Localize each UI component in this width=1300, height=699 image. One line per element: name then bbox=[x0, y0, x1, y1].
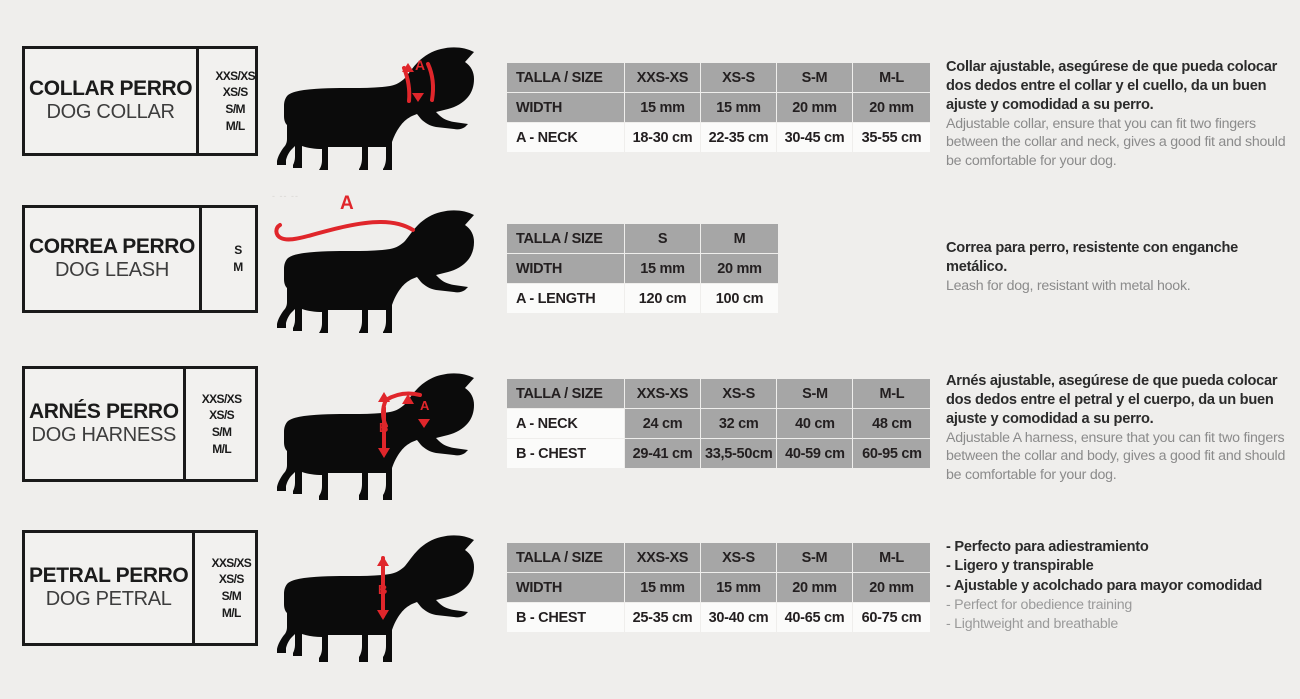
list-item: - Lightweight and breathable bbox=[946, 615, 1286, 634]
column-header: XS-S bbox=[701, 63, 777, 93]
row-label: A - NECK bbox=[507, 123, 625, 153]
dog-petral-svg: B bbox=[268, 522, 500, 664]
row-label: WIDTH bbox=[507, 254, 625, 284]
column-header: M-L bbox=[853, 63, 931, 93]
table-cell: 25-35 cm bbox=[625, 603, 701, 633]
table-cell: 30-40 cm bbox=[701, 603, 777, 633]
table-cell: 15 mm bbox=[625, 573, 701, 603]
table-cell: 60-75 cm bbox=[853, 603, 931, 633]
table-cell: 40-65 cm bbox=[777, 603, 853, 633]
dog-silhouette-petral-illustration: B bbox=[268, 522, 500, 664]
dog-leash-svg: A - -- -- bbox=[268, 183, 500, 333]
nameplate-dog-petral: PETRAL PERRO DOG PETRAL XXS/XS XS/S S/M … bbox=[22, 530, 258, 646]
row-label: WIDTH bbox=[507, 573, 625, 603]
nameplate-titles: COLLAR PERRO DOG COLLAR bbox=[25, 49, 199, 153]
nameplate-dog-collar: COLLAR PERRO DOG COLLAR XXS/XS XS/S S/M … bbox=[22, 46, 258, 156]
column-header: TALLA / SIZE bbox=[507, 63, 625, 93]
table-cell: 15 mm bbox=[625, 93, 701, 123]
size-label: XXS/XS bbox=[211, 555, 251, 572]
size-table-dog-harness-wrap: TALLA / SIZE XXS-XS XS-S S-M M-L A - NEC… bbox=[506, 378, 931, 469]
dog-silhouette-collar-illustration: A bbox=[268, 40, 500, 170]
column-header: XXS-XS bbox=[625, 63, 701, 93]
description-dog-leash: Correa para perro, resistente con enganc… bbox=[946, 239, 1286, 295]
scan-artifact: - -- -- bbox=[272, 191, 299, 201]
table-cell: 15 mm bbox=[625, 254, 701, 284]
nameplate-titles: PETRAL PERRO DOG PETRAL bbox=[25, 533, 195, 643]
table-cell: 20 mm bbox=[701, 254, 779, 284]
row-label: B - CHEST bbox=[507, 439, 625, 469]
size-label: XS/S bbox=[209, 407, 234, 424]
product-title-es: CORREA PERRO bbox=[29, 236, 195, 259]
table-header-row: TALLA / SIZE XXS-XS XS-S S-M M-L bbox=[507, 379, 931, 409]
product-title-es: ARNÉS PERRO bbox=[29, 401, 179, 424]
column-header: S-M bbox=[777, 379, 853, 409]
table-cell: 40 cm bbox=[777, 409, 853, 439]
table-cell: 60-95 cm bbox=[853, 439, 931, 469]
product-title-en: DOG COLLAR bbox=[47, 101, 175, 123]
table-cell: 30-45 cm bbox=[777, 123, 853, 153]
product-title-en: DOG HARNESS bbox=[32, 424, 177, 446]
description-es: Arnés ajustable, asegúrese de que pueda … bbox=[946, 372, 1286, 429]
table-row: WIDTH 15 mm 15 mm 20 mm 20 mm bbox=[507, 573, 931, 603]
table-cell: 20 mm bbox=[777, 93, 853, 123]
table-row: B - CHEST 25-35 cm 30-40 cm 40-65 cm 60-… bbox=[507, 603, 931, 633]
table-cell: 100 cm bbox=[701, 284, 779, 314]
column-header: M bbox=[701, 224, 779, 254]
column-header: S-M bbox=[777, 543, 853, 573]
size-table-dog-collar: TALLA / SIZE XXS-XS XS-S S-M M-L WIDTH 1… bbox=[506, 62, 931, 153]
column-header: XS-S bbox=[701, 543, 777, 573]
size-label: M/L bbox=[226, 118, 245, 135]
table-cell: 20 mm bbox=[853, 573, 931, 603]
nameplate-titles: CORREA PERRO DOG LEASH bbox=[25, 208, 202, 310]
product-section-dog-petral: PETRAL PERRO DOG PETRAL XXS/XS XS/S S/M … bbox=[0, 530, 1300, 670]
list-item: - Perfecto para adiestramiento bbox=[946, 538, 1286, 557]
table-cell: 15 mm bbox=[701, 93, 777, 123]
description-en: Adjustable collar, ensure that you can f… bbox=[946, 115, 1286, 170]
size-table-dog-petral: TALLA / SIZE XXS-XS XS-S S-M M-L WIDTH 1… bbox=[506, 542, 931, 633]
table-cell: 18-30 cm bbox=[625, 123, 701, 153]
dog-silhouette-leash-illustration: A - -- -- bbox=[268, 183, 500, 333]
column-header: TALLA / SIZE bbox=[507, 224, 625, 254]
description-es: Correa para perro, resistente con enganc… bbox=[946, 239, 1286, 277]
column-header: M-L bbox=[853, 379, 931, 409]
size-label: XS/S bbox=[219, 571, 244, 588]
description-en: Adjustable A harness, ensure that you ca… bbox=[946, 429, 1286, 484]
size-table-dog-collar-wrap: TALLA / SIZE XXS-XS XS-S S-M M-L WIDTH 1… bbox=[506, 62, 931, 153]
list-item: - Perfect for obedience training bbox=[946, 596, 1286, 615]
table-cell: 35-55 cm bbox=[853, 123, 931, 153]
dog-silhouette-harness-illustration: A B bbox=[268, 362, 500, 504]
row-label: B - CHEST bbox=[507, 603, 625, 633]
product-title-en: DOG LEASH bbox=[55, 259, 169, 281]
table-cell: 22-35 cm bbox=[701, 123, 777, 153]
row-label: WIDTH bbox=[507, 93, 625, 123]
table-header-row: TALLA / SIZE XXS-XS XS-S S-M M-L bbox=[507, 543, 931, 573]
leash-line bbox=[276, 222, 413, 239]
table-cell: 120 cm bbox=[625, 284, 701, 314]
table-cell: 32 cm bbox=[701, 409, 777, 439]
table-row: WIDTH 15 mm 20 mm bbox=[507, 254, 779, 284]
size-guide-sheet: COLLAR PERRO DOG COLLAR XXS/XS XS/S S/M … bbox=[0, 0, 1300, 699]
table-row: B - CHEST 29-41 cm 33,5-50cm 40-59 cm 60… bbox=[507, 439, 931, 469]
description-en: Leash for dog, resistant with metal hook… bbox=[946, 277, 1286, 295]
marker-label-b: B bbox=[379, 420, 388, 435]
row-label: A - LENGTH bbox=[507, 284, 625, 314]
product-section-dog-collar: COLLAR PERRO DOG COLLAR XXS/XS XS/S S/M … bbox=[0, 46, 1300, 176]
table-row: A - LENGTH 120 cm 100 cm bbox=[507, 284, 779, 314]
nameplate-dog-harness: ARNÉS PERRO DOG HARNESS XXS/XS XS/S S/M … bbox=[22, 366, 258, 482]
table-header-row: TALLA / SIZE S M bbox=[507, 224, 779, 254]
nameplate-size-list: XXS/XS XS/S S/M M/L bbox=[186, 369, 258, 479]
size-label: M/L bbox=[222, 605, 241, 622]
size-label: S/M bbox=[212, 424, 232, 441]
marker-label-b: B bbox=[378, 582, 387, 597]
size-table-dog-petral-wrap: TALLA / SIZE XXS-XS XS-S S-M M-L WIDTH 1… bbox=[506, 542, 931, 633]
size-label: S bbox=[234, 242, 241, 259]
description-dog-harness: Arnés ajustable, asegúrese de que pueda … bbox=[946, 372, 1286, 484]
size-label: XXS/XS bbox=[215, 68, 255, 85]
product-section-dog-harness: ARNÉS PERRO DOG HARNESS XXS/XS XS/S S/M … bbox=[0, 366, 1300, 506]
description-dog-collar: Collar ajustable, asegúrese de que pueda… bbox=[946, 58, 1286, 170]
product-section-dog-leash: CORREA PERRO DOG LEASH S M A - -- -- bbox=[0, 205, 1300, 335]
nameplate-size-list: XXS/XS XS/S S/M M/L bbox=[199, 49, 271, 153]
table-row: A - NECK 24 cm 32 cm 40 cm 48 cm bbox=[507, 409, 931, 439]
list-item: - Ligero y transpirable bbox=[946, 557, 1286, 576]
nameplate-size-list: XXS/XS XS/S S/M M/L bbox=[195, 533, 267, 643]
nameplate-titles: ARNÉS PERRO DOG HARNESS bbox=[25, 369, 186, 479]
table-cell: 20 mm bbox=[853, 93, 931, 123]
size-table-dog-leash-wrap: TALLA / SIZE S M WIDTH 15 mm 20 mm A - L… bbox=[506, 223, 779, 314]
table-cell: 40-59 cm bbox=[777, 439, 853, 469]
product-title-en: DOG PETRAL bbox=[46, 588, 172, 610]
product-title-es: COLLAR PERRO bbox=[29, 78, 192, 101]
column-header: XXS-XS bbox=[625, 543, 701, 573]
size-label: XXS/XS bbox=[202, 391, 242, 408]
size-table-dog-leash: TALLA / SIZE S M WIDTH 15 mm 20 mm A - L… bbox=[506, 223, 779, 314]
dog-harness-svg: A B bbox=[268, 362, 500, 504]
marker-label-a: A bbox=[415, 57, 425, 73]
marker-label-a: A bbox=[420, 398, 430, 413]
dog-collar-svg: A bbox=[268, 40, 500, 170]
size-label: M/L bbox=[212, 441, 231, 458]
table-cell: 20 mm bbox=[777, 573, 853, 603]
column-header: TALLA / SIZE bbox=[507, 379, 625, 409]
table-row: A - NECK 18-30 cm 22-35 cm 30-45 cm 35-5… bbox=[507, 123, 931, 153]
table-cell: 15 mm bbox=[701, 573, 777, 603]
table-cell: 48 cm bbox=[853, 409, 931, 439]
nameplate-dog-leash: CORREA PERRO DOG LEASH S M bbox=[22, 205, 258, 313]
marker-label-a: A bbox=[340, 193, 354, 214]
column-header: XXS-XS bbox=[625, 379, 701, 409]
column-header: TALLA / SIZE bbox=[507, 543, 625, 573]
feature-list: - Perfecto para adiestramiento - Ligero … bbox=[946, 538, 1286, 634]
list-item: - Ajustable y acolchado para mayor comod… bbox=[946, 577, 1286, 596]
column-header: XS-S bbox=[701, 379, 777, 409]
row-label: A - NECK bbox=[507, 409, 625, 439]
table-header-row: TALLA / SIZE XXS-XS XS-S S-M M-L bbox=[507, 63, 931, 93]
description-dog-petral: - Perfecto para adiestramiento - Ligero … bbox=[946, 538, 1286, 634]
table-cell: 24 cm bbox=[625, 409, 701, 439]
column-header: S-M bbox=[777, 63, 853, 93]
table-cell: 29-41 cm bbox=[625, 439, 701, 469]
product-title-es: PETRAL PERRO bbox=[29, 565, 188, 588]
nameplate-size-list: S M bbox=[202, 208, 274, 310]
column-header: M-L bbox=[853, 543, 931, 573]
size-label: S/M bbox=[225, 101, 245, 118]
column-header: S bbox=[625, 224, 701, 254]
size-label: XS/S bbox=[223, 84, 248, 101]
size-table-dog-harness: TALLA / SIZE XXS-XS XS-S S-M M-L A - NEC… bbox=[506, 378, 931, 469]
description-es: Collar ajustable, asegúrese de que pueda… bbox=[946, 58, 1286, 115]
size-label: S/M bbox=[222, 588, 242, 605]
size-label: M bbox=[233, 259, 242, 276]
table-cell: 33,5-50cm bbox=[701, 439, 777, 469]
table-row: WIDTH 15 mm 15 mm 20 mm 20 mm bbox=[507, 93, 931, 123]
